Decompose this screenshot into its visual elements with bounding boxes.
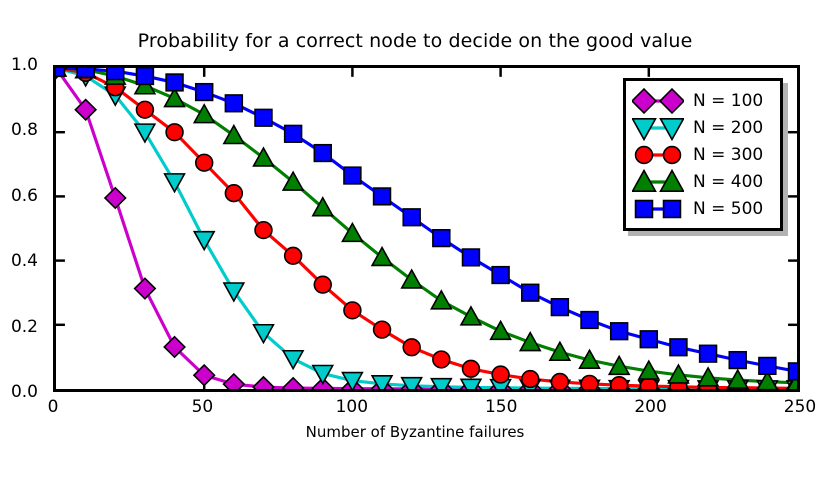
data-point-circle (374, 321, 391, 338)
chart-legend: N = 100N = 200N = 300N = 400N = 500 (623, 78, 783, 231)
chart-figure: Probability for a correct node to decide… (0, 0, 830, 482)
y-tick-label: 0.4 (0, 251, 38, 271)
data-point-square (492, 267, 509, 284)
data-point-square (670, 339, 687, 356)
data-point-triangle-up (461, 307, 481, 325)
data-point-square (551, 299, 568, 316)
data-point-circle (196, 154, 213, 171)
x-tick-label: 250 (760, 397, 830, 417)
legend-label: N = 200 (684, 118, 763, 138)
data-point-circle (344, 302, 361, 319)
x-axis-label: Number of Byzantine failures (0, 423, 830, 441)
data-point-diamond (105, 188, 126, 208)
legend-item-n200: N = 200 (632, 114, 772, 141)
data-point-square (255, 109, 272, 126)
legend-item-n500: N = 500 (632, 195, 772, 222)
data-point-square (56, 68, 64, 76)
data-point-diamond (75, 100, 96, 120)
legend-label: N = 300 (684, 145, 763, 165)
data-point-circle (166, 124, 183, 141)
legend-marker (664, 200, 681, 217)
data-point-square (611, 323, 628, 340)
y-tick-label: 1.0 (0, 55, 38, 75)
data-point-triangle-down (283, 351, 303, 369)
data-point-square (374, 188, 391, 205)
data-point-circle (314, 276, 331, 293)
x-tick-label: 200 (611, 397, 691, 417)
data-point-circle (492, 366, 509, 383)
data-point-square (581, 312, 598, 329)
data-point-circle (433, 351, 450, 368)
data-point-triangle-up (520, 333, 540, 351)
x-tick-label: 150 (461, 397, 541, 417)
data-point-square (285, 125, 302, 142)
legend-label: N = 400 (684, 172, 763, 192)
data-point-triangle-up (431, 291, 451, 309)
data-point-square (225, 95, 242, 112)
legend-marker (636, 146, 653, 163)
data-point-square (759, 358, 776, 375)
data-point-square (136, 68, 153, 84)
y-tick-label: 0.2 (0, 317, 38, 337)
legend-marker (636, 200, 653, 217)
legend-item-n100: N = 100 (632, 87, 772, 114)
legend-label: N = 500 (684, 199, 763, 219)
data-point-diamond (253, 377, 274, 389)
data-point-square (640, 331, 657, 348)
data-point-triangle-up (491, 321, 511, 339)
data-point-square (344, 167, 361, 184)
legend-marker-circle-icon (632, 142, 684, 168)
data-point-square (314, 145, 331, 162)
data-point-circle (522, 371, 539, 388)
data-point-circle (581, 376, 598, 389)
data-point-diamond (224, 374, 245, 389)
legend-marker-square-icon (632, 196, 684, 222)
data-point-triangle-down (194, 232, 214, 250)
data-point-circle (255, 222, 272, 239)
data-point-diamond (135, 278, 156, 298)
legend-marker (660, 89, 684, 113)
legend-marker (664, 146, 681, 163)
data-point-square (403, 209, 420, 226)
x-tick-label: 50 (162, 397, 242, 417)
legend-item-n300: N = 300 (632, 141, 772, 168)
data-point-square (463, 249, 480, 266)
legend-label: N = 100 (684, 91, 763, 111)
legend-marker-triangle-down-icon (632, 115, 684, 141)
data-point-circle (463, 360, 480, 377)
legend-marker-diamond-icon (632, 88, 684, 114)
x-tick-label: 0 (13, 397, 93, 417)
data-point-square (196, 84, 213, 101)
data-point-square (522, 284, 539, 301)
data-point-circle (285, 247, 302, 264)
y-tick-label: 0.8 (0, 120, 38, 140)
data-point-circle (403, 339, 420, 356)
data-point-diamond (283, 378, 304, 389)
data-point-triangle-down (165, 174, 185, 192)
data-point-square (433, 230, 450, 247)
chart-title: Probability for a correct node to decide… (0, 30, 830, 52)
data-point-square (700, 345, 717, 362)
data-point-triangle-down (135, 124, 155, 142)
data-point-triangle-up (224, 126, 244, 144)
data-point-square (107, 68, 124, 80)
legend-marker (632, 89, 656, 113)
data-point-circle (225, 185, 242, 202)
data-point-square (77, 68, 94, 77)
data-point-square (789, 363, 797, 380)
x-tick-label: 100 (312, 397, 392, 417)
data-point-circle (136, 101, 153, 118)
data-point-circle (611, 377, 628, 389)
data-point-square (166, 74, 183, 91)
data-point-circle (551, 374, 568, 389)
legend-item-n400: N = 400 (632, 168, 772, 195)
data-point-triangle-up (194, 105, 214, 123)
data-point-square (729, 352, 746, 369)
y-tick-label: 0.6 (0, 186, 38, 206)
legend-marker-triangle-up-icon (632, 169, 684, 195)
